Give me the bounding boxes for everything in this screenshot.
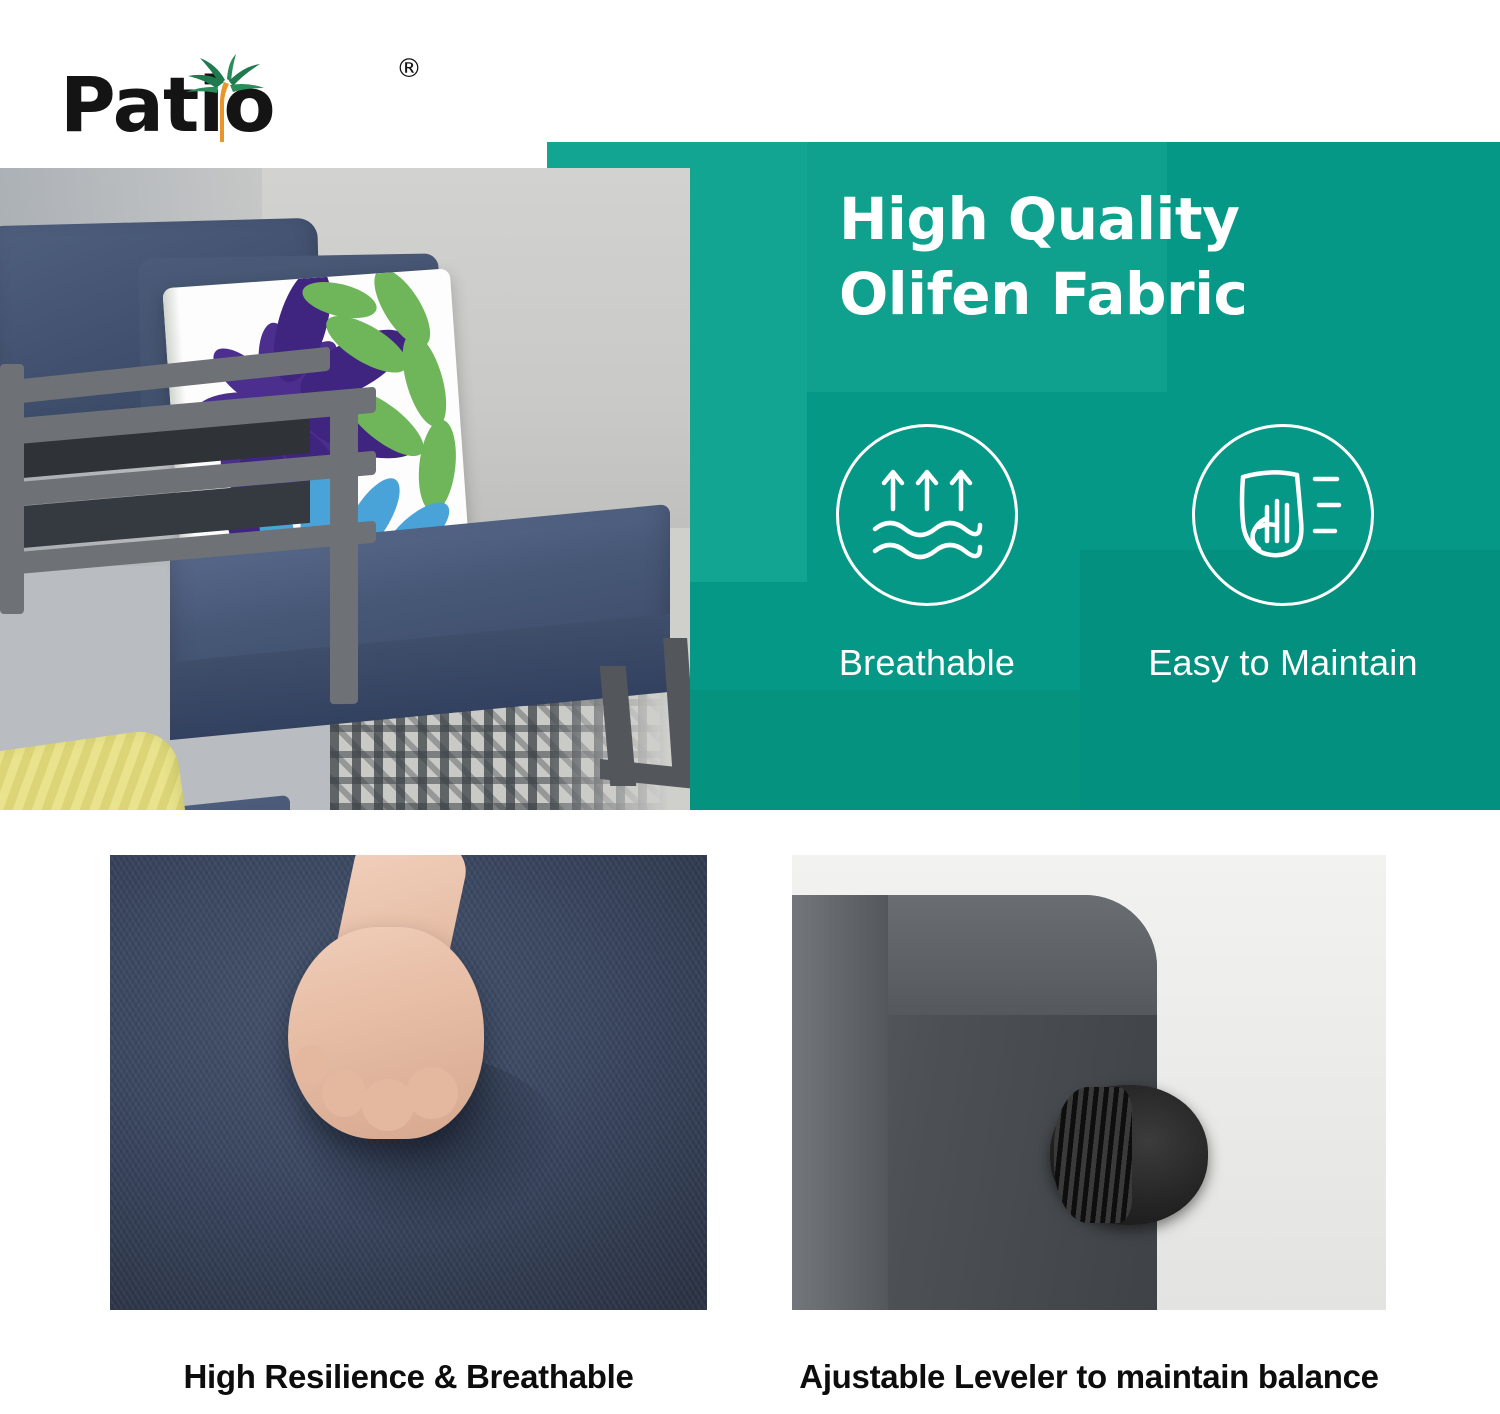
panel-headline: High Quality Olifen Fabric [839,182,1479,333]
product-feature-page: Patioama ® High Quality Olifen Fabric [0,0,1500,1414]
palm-tree-icon [172,54,272,146]
fist-pressing-cushion-photo [110,855,707,1310]
photo-chair-leg-shading [792,895,888,1310]
feature-label: Easy to Maintain [1148,642,1417,684]
patio-armchair-hero-photo [0,168,690,810]
feature-list: Breathable [797,424,1497,684]
photo-yellow-throw [0,727,189,810]
photo-arm-post [0,364,24,614]
photo-fist [288,927,484,1139]
feature-icon-circle [1192,424,1374,606]
caption-left: High Resilience & Breathable [110,1358,707,1396]
feature-icon-circle [836,424,1018,606]
photo-leveler-knob-ridges [1054,1087,1132,1223]
breathable-airflow-icon [867,463,987,567]
caption-right: Ajustable Leveler to maintain balance [792,1358,1386,1396]
brand-logo: Patioama ® [60,52,480,152]
feature-breathable: Breathable [797,424,1057,684]
registered-trademark-symbol: ® [396,54,422,84]
adjustable-leveler-photo [792,855,1386,1310]
feature-easy-to-maintain: Easy to Maintain [1153,424,1413,684]
headline-line-2: Olifen Fabric [839,257,1479,332]
photo-arm-post [330,404,358,704]
headline-line-1: High Quality [839,182,1479,257]
wiping-hand-cloth-icon [1223,461,1343,569]
feature-label: Breathable [839,642,1015,684]
